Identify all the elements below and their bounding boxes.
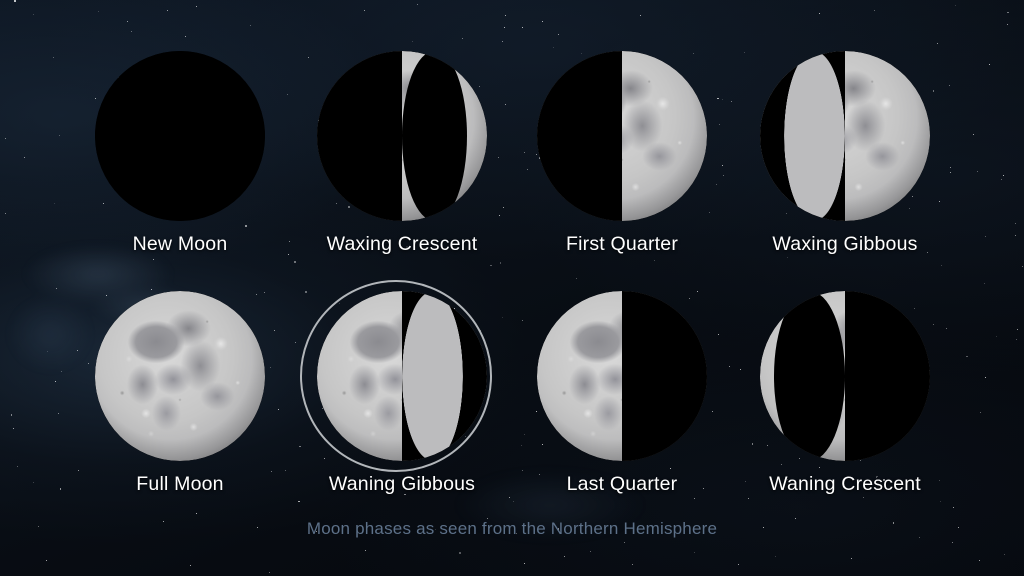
phase-grid: New MoonWaxing CrescentFirst QuarterWaxi… bbox=[0, 0, 1024, 576]
moon-image-first-quarter[interactable] bbox=[537, 51, 707, 221]
moon-image-waxing-gibbous[interactable] bbox=[760, 51, 930, 221]
phase-label-waxing-gibbous: Waxing Gibbous bbox=[735, 233, 955, 256]
phase-cell-waning-crescent[interactable]: Waning Crescent bbox=[735, 291, 955, 496]
phase-cell-waxing-crescent[interactable]: Waxing Crescent bbox=[292, 51, 512, 256]
moon-disc bbox=[537, 291, 707, 461]
moon-image-last-quarter[interactable] bbox=[537, 291, 707, 461]
lunar-surface bbox=[760, 291, 930, 461]
moon-image-new-moon[interactable] bbox=[95, 51, 265, 221]
lunar-surface bbox=[317, 51, 487, 221]
lunar-surface bbox=[317, 291, 487, 461]
phase-label-waning-gibbous: Waning Gibbous bbox=[292, 473, 512, 496]
moon-image-waxing-crescent[interactable] bbox=[317, 51, 487, 221]
phase-label-first-quarter: First Quarter bbox=[512, 233, 732, 256]
phase-cell-full-moon[interactable]: Full Moon bbox=[70, 291, 290, 496]
moon-disc bbox=[317, 291, 487, 461]
moon-shadow bbox=[95, 51, 265, 221]
moon-phases-diagram: New MoonWaxing CrescentFirst QuarterWaxi… bbox=[0, 0, 1024, 576]
lunar-surface bbox=[95, 291, 265, 461]
phase-cell-waxing-gibbous[interactable]: Waxing Gibbous bbox=[735, 51, 955, 256]
lunar-surface bbox=[760, 51, 930, 221]
phase-label-waxing-crescent: Waxing Crescent bbox=[292, 233, 512, 256]
moon-disc bbox=[95, 51, 265, 221]
phase-cell-new-moon[interactable]: New Moon bbox=[70, 51, 290, 256]
moon-disc bbox=[537, 51, 707, 221]
phase-label-waning-crescent: Waning Crescent bbox=[735, 473, 955, 496]
lunar-surface bbox=[537, 291, 707, 461]
moon-disc bbox=[760, 291, 930, 461]
moon-disc bbox=[760, 51, 930, 221]
moon-disc bbox=[317, 51, 487, 221]
lunar-surface bbox=[537, 51, 707, 221]
phase-label-last-quarter: Last Quarter bbox=[512, 473, 732, 496]
phase-cell-last-quarter[interactable]: Last Quarter bbox=[512, 291, 732, 496]
moon-disc bbox=[95, 291, 265, 461]
phase-cell-waning-gibbous[interactable]: Waning Gibbous bbox=[292, 291, 512, 496]
moon-image-full-moon[interactable] bbox=[95, 291, 265, 461]
moon-image-waning-gibbous[interactable] bbox=[317, 291, 487, 461]
phase-cell-first-quarter[interactable]: First Quarter bbox=[512, 51, 732, 256]
phase-label-full-moon: Full Moon bbox=[70, 473, 290, 496]
phase-label-new-moon: New Moon bbox=[70, 233, 290, 256]
diagram-caption: Moon phases as seen from the Northern He… bbox=[0, 519, 1024, 539]
moon-image-waning-crescent[interactable] bbox=[760, 291, 930, 461]
